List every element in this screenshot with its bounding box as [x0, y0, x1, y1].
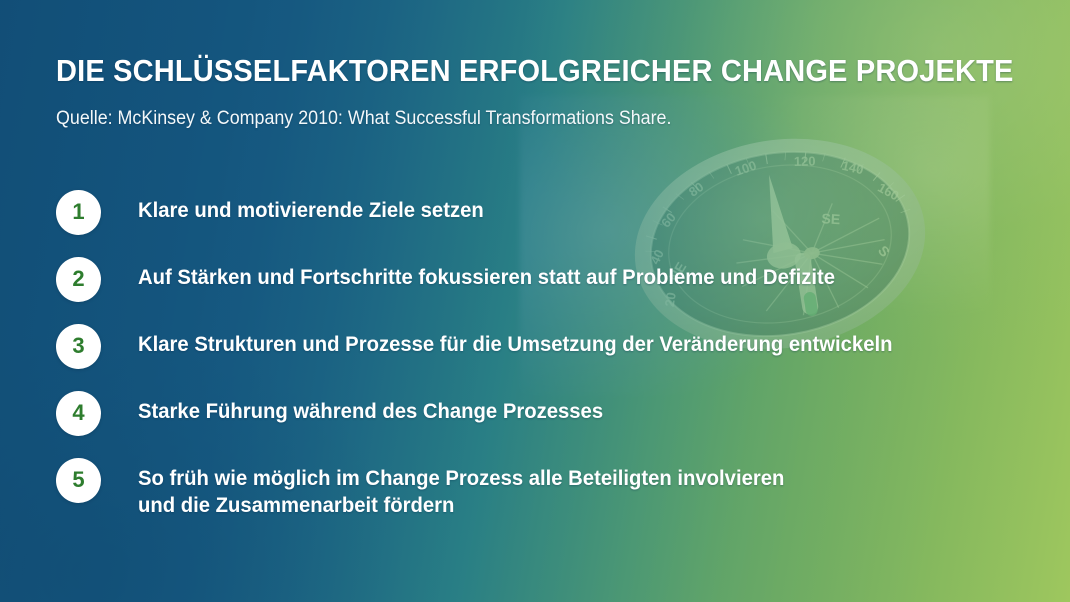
key-factors-list: 1 Klare und motivierende Ziele setzen 2 … — [56, 190, 1036, 542]
number-badge: 5 — [56, 458, 101, 503]
list-item-text: Klare Strukturen und Prozesse für die Um… — [138, 324, 892, 359]
slide: 20 40 60 80 100 120 140 160 SE S NE — [0, 0, 1070, 602]
badge-number: 1 — [72, 201, 84, 223]
number-badge: 3 — [56, 324, 101, 369]
number-badge: 2 — [56, 257, 101, 302]
list-item: 3 Klare Strukturen und Prozesse für die … — [56, 324, 1036, 369]
list-item: 1 Klare und motivierende Ziele setzen — [56, 190, 1036, 235]
badge-number: 4 — [72, 402, 84, 424]
badge-number: 3 — [72, 335, 84, 357]
list-item-line-1: Klare und motivierende Ziele setzen — [138, 199, 484, 222]
list-item-line-2: und die Zusammenarbeit fördern — [138, 493, 784, 520]
badge-number: 5 — [72, 469, 84, 491]
list-item-line-1: Starke Führung während des Change Prozes… — [138, 400, 603, 423]
list-item-text: So früh wie möglich im Change Prozess al… — [138, 458, 784, 520]
page-title: DIE SCHLÜSSELFAKTOREN ERFOLGREICHER CHAN… — [56, 53, 1014, 89]
list-item-text: Starke Führung während des Change Prozes… — [138, 391, 603, 426]
number-badge: 4 — [56, 391, 101, 436]
slide-content: DIE SCHLÜSSELFAKTOREN ERFOLGREICHER CHAN… — [0, 0, 1070, 602]
number-badge: 1 — [56, 190, 101, 235]
source-citation: Quelle: McKinsey & Company 2010: What Su… — [56, 108, 671, 130]
list-item-text: Auf Stärken und Fortschritte fokussieren… — [138, 257, 835, 292]
list-item-text: Klare und motivierende Ziele setzen — [138, 190, 484, 225]
list-item-line-1: Auf Stärken und Fortschritte fokussieren… — [138, 266, 835, 289]
badge-number: 2 — [72, 268, 84, 290]
list-item: 5 So früh wie möglich im Change Prozess … — [56, 458, 1036, 520]
list-item-line-1: So früh wie möglich im Change Prozess al… — [138, 467, 784, 490]
list-item: 4 Starke Führung während des Change Proz… — [56, 391, 1036, 436]
list-item-line-1: Klare Strukturen und Prozesse für die Um… — [138, 333, 892, 356]
list-item: 2 Auf Stärken und Fortschritte fokussier… — [56, 257, 1036, 302]
